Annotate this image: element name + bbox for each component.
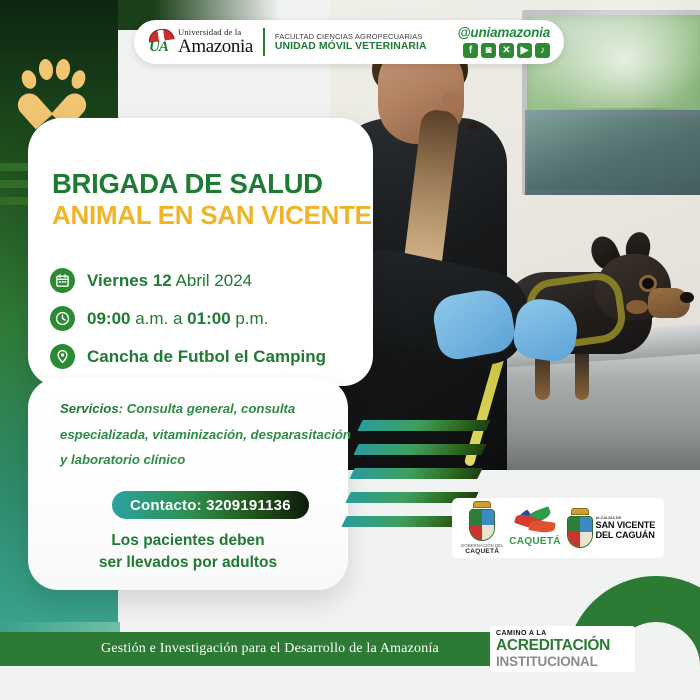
gobernacion-caption-main: CAQUETÁ	[465, 548, 499, 555]
university-wordmark: Universidad de la Amazonia	[178, 27, 253, 58]
diagonal-stripe	[353, 444, 486, 455]
poster-canvas: UA Universidad de la Amazonia FACULTAD C…	[0, 0, 700, 700]
shield-icon	[567, 516, 593, 548]
chili-peppers-icon	[513, 510, 557, 536]
headline-line2: ANIMAL EN SAN VICENTE	[52, 200, 372, 231]
time-end-val: 01:00	[187, 309, 230, 328]
time-mid: a.m. a	[130, 309, 187, 328]
clock-icon	[50, 306, 75, 331]
social-handle[interactable]: @uniamazonia	[457, 26, 550, 40]
paw-print-icon	[20, 56, 82, 114]
accreditation-line1: ACREDITACIÓN	[496, 638, 629, 654]
shield-quarter	[568, 532, 580, 547]
info-date-text: Viernes 12 Abril 2024	[87, 271, 252, 291]
veterinarian-photo	[330, 0, 700, 470]
photo-vet-nose	[442, 92, 460, 110]
footer-bar: Gestión e Investigación para el Desarrol…	[0, 632, 540, 666]
left-panel-bottom-edge	[0, 622, 120, 632]
services-text: Servicios: Consulta general, consulta es…	[60, 396, 360, 473]
photo-dog-eye	[642, 278, 654, 289]
diagonal-stripe	[349, 468, 482, 479]
accreditation-line2: INSTITUCIONAL	[496, 655, 629, 669]
crown-shape	[473, 501, 491, 508]
crown-shape	[571, 508, 589, 515]
headline-line1: BRIGADA DE SALUD	[52, 168, 323, 200]
time-start: 09:00	[87, 309, 130, 328]
social-block: @uniamazonia f ◙ ✕ ▶ ♪	[457, 26, 550, 58]
services-label: Servicios:	[60, 401, 123, 416]
photo-dog-leg	[575, 348, 589, 400]
diagonal-stripe	[357, 420, 490, 431]
date-bold: Viernes 12	[87, 271, 172, 290]
info-row-place: Cancha de Futbol el Camping	[50, 344, 326, 369]
university-line2: Amazonia	[178, 36, 253, 58]
note-line1: Los pacientes deben	[28, 530, 348, 552]
paw-toe	[38, 58, 54, 80]
info-row-time: 09:00 a.m. a 01:00 p.m.	[50, 306, 326, 331]
shield-quarter	[470, 525, 482, 540]
accreditation-top-text: CAMINO A LA	[496, 630, 629, 637]
paw-toe	[55, 58, 71, 80]
instagram-icon[interactable]: ◙	[481, 43, 496, 58]
photo-window-lower-pane	[525, 110, 700, 195]
ua-letters: UA	[149, 39, 168, 56]
faculty-line1: FACULTAD CIENCIAS AGROPECUARIAS	[275, 32, 427, 41]
tiktok-icon[interactable]: ♪	[535, 43, 550, 58]
san-vicente-crest	[567, 508, 593, 548]
faculty-block: FACULTAD CIENCIAS AGROPECUARIAS UNIDAD M…	[275, 32, 427, 52]
patients-note: Los pacientes deben ser llevados por adu…	[28, 530, 348, 575]
shield-icon	[469, 509, 495, 541]
photo-vet-eye	[466, 124, 478, 130]
time-suffix: p.m.	[231, 309, 269, 328]
gobernacion-caqueta-logo: GOBERNACIÓN DEL CAQUETÁ	[461, 501, 504, 555]
location-pin-icon	[50, 344, 75, 369]
university-logo[interactable]: UA Universidad de la Amazonia	[148, 27, 253, 58]
shield-quarter	[470, 510, 482, 525]
caqueta-brand-caption: CAQUETÁ	[509, 536, 561, 547]
calendar-icon	[50, 268, 75, 293]
shield-quarter	[568, 517, 580, 532]
note-line2: ser llevados por adultos	[28, 552, 348, 574]
san-vicente-del-caguan-logo: ALCALDÍA DE SAN VICENTE DEL CAGUÁN	[567, 508, 656, 548]
header-bar: UA Universidad de la Amazonia FACULTAD C…	[134, 20, 564, 64]
shield-quarter	[482, 525, 494, 540]
contact-badge[interactable]: Contacto: 3209191136	[112, 491, 309, 519]
chili-orange	[528, 519, 555, 534]
photo-dog-nose	[680, 292, 694, 303]
x-twitter-icon[interactable]: ✕	[499, 43, 514, 58]
header-divider	[263, 28, 265, 56]
san-vicente-caption-line2: DEL CAGUÁN	[596, 530, 656, 540]
partner-logo-strip: GOBERNACIÓN DEL CAQUETÁ CAQUETÁ	[452, 498, 664, 558]
photo-dog-tan-marking	[626, 300, 648, 314]
shield-quarter	[482, 510, 494, 525]
info-place-text: Cancha de Futbol el Camping	[87, 347, 326, 367]
youtube-icon[interactable]: ▶	[517, 43, 532, 58]
ua-monogram-icon: UA	[148, 28, 174, 56]
social-icon-row: f ◙ ✕ ▶ ♪	[457, 43, 550, 58]
info-time-text: 09:00 a.m. a 01:00 p.m.	[87, 309, 268, 329]
shield-quarter	[580, 517, 592, 532]
caqueta-brand-logo: CAQUETÁ	[509, 510, 561, 547]
date-rest: Abril 2024	[172, 271, 252, 290]
san-vicente-caption-line1: SAN VICENTE	[596, 520, 656, 530]
accreditation-badge: CAMINO A LA ACREDITACIÓN INSTITUCIONAL	[490, 626, 635, 672]
paw-heart-pad	[30, 80, 74, 114]
info-row-date: Viernes 12 Abril 2024	[50, 268, 326, 293]
san-vicente-caption: ALCALDÍA DE SAN VICENTE DEL CAGUÁN	[596, 516, 656, 540]
facebook-icon[interactable]: f	[463, 43, 478, 58]
gobernacion-caption: GOBERNACIÓN DEL CAQUETÁ	[461, 543, 504, 555]
footer-slogan: Gestión e Investigación para el Desarrol…	[101, 641, 439, 657]
event-info-list: Viernes 12 Abril 2024 09:00 a.m. a 01:00…	[50, 268, 326, 382]
faculty-line2: UNIDAD MÓVIL VETERINARIA	[275, 41, 427, 52]
shield-quarter	[580, 532, 592, 547]
